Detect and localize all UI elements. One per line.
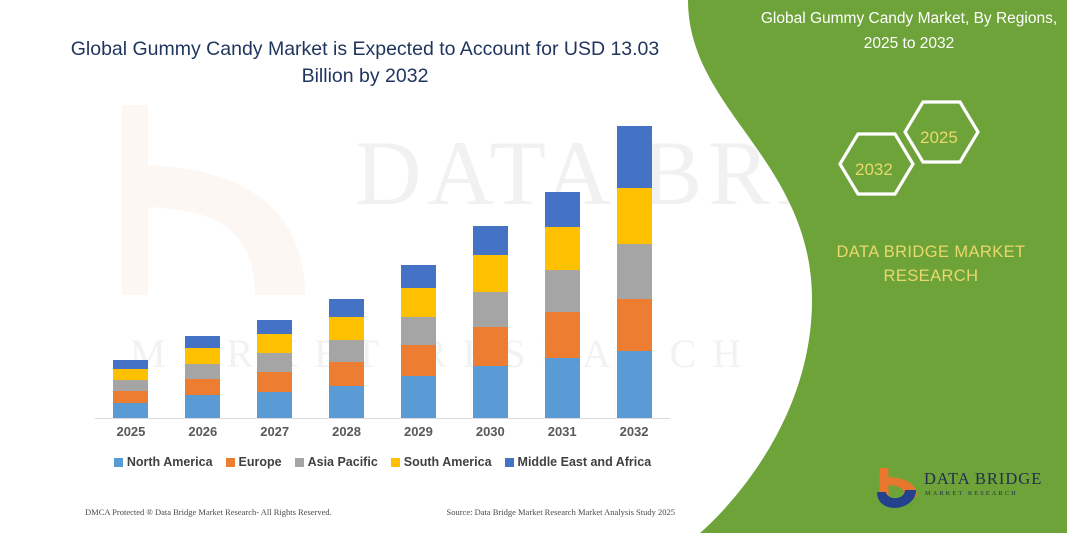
- stacked-bar: [545, 192, 580, 418]
- bar-segment: [401, 288, 436, 317]
- bar-segment: [257, 372, 292, 392]
- bar-segment: [329, 340, 364, 362]
- stacked-bar: [113, 360, 148, 418]
- x-axis-tick-2029: 2029: [383, 424, 455, 439]
- bar-segment: [113, 369, 148, 380]
- bar-segment: [617, 351, 652, 419]
- hex-label-2025: 2025: [920, 128, 958, 148]
- x-axis-labels: 20252026202720282029203020312032: [95, 424, 670, 439]
- footer-source: Source: Data Bridge Market Research Mark…: [446, 507, 675, 517]
- bar-segment: [473, 292, 508, 327]
- legend-item-south-america[interactable]: South America: [391, 455, 492, 469]
- legend-item-europe[interactable]: Europe: [226, 455, 282, 469]
- legend-label: Europe: [239, 455, 282, 469]
- bar-segment: [401, 345, 436, 376]
- bar-segment: [617, 126, 652, 188]
- hex-label-2032: 2032: [855, 160, 893, 180]
- legend-label: Middle East and Africa: [518, 455, 652, 469]
- bar-segment: [473, 327, 508, 366]
- bar-column-2025: [95, 110, 167, 418]
- bar-segment: [545, 358, 580, 418]
- bar-column-2029: [383, 110, 455, 418]
- bar-column-2028: [311, 110, 383, 418]
- bar-segment: [473, 226, 508, 255]
- bar-segment: [329, 386, 364, 418]
- bar-segment: [113, 360, 148, 368]
- legend-swatch-icon: [295, 458, 304, 467]
- footer-copyright: DMCA Protected ® Data Bridge Market Rese…: [85, 507, 332, 517]
- x-axis-tick-2030: 2030: [454, 424, 526, 439]
- bar-segment: [401, 265, 436, 288]
- bar-segment: [401, 317, 436, 345]
- bar-column-2027: [239, 110, 311, 418]
- stacked-bar: [185, 336, 220, 418]
- x-axis-line: [95, 418, 670, 419]
- legend-label: North America: [127, 455, 213, 469]
- brand-line-2: RESEARCH: [800, 264, 1062, 288]
- panel-title: Global Gummy Candy Market, By Regions, 2…: [760, 6, 1058, 56]
- stacked-bar: [257, 320, 292, 418]
- stacked-bar: [617, 126, 652, 418]
- legend-swatch-icon: [391, 458, 400, 467]
- brand-line-1: DATA BRIDGE MARKET: [800, 240, 1062, 264]
- x-axis-tick-2028: 2028: [311, 424, 383, 439]
- x-axis-tick-2032: 2032: [598, 424, 670, 439]
- x-axis-tick-2027: 2027: [239, 424, 311, 439]
- bar-segment: [545, 312, 580, 358]
- bar-segment: [185, 364, 220, 379]
- logo-tagline: MARKET RESEARCH: [925, 490, 1018, 497]
- bar-segment: [545, 270, 580, 312]
- bar-segment: [185, 348, 220, 364]
- bar-segment: [401, 376, 436, 418]
- footer: DMCA Protected ® Data Bridge Market Rese…: [85, 507, 675, 517]
- data-bridge-logo: DATA BRIDGE MARKET RESEARCH: [872, 466, 1057, 514]
- bar-segment: [113, 403, 148, 418]
- bar-column-2032: [598, 110, 670, 418]
- stacked-bar-chart: [95, 110, 670, 418]
- legend-swatch-icon: [505, 458, 514, 467]
- hexagon-pair-icon: [820, 95, 1020, 215]
- x-axis-tick-2025: 2025: [95, 424, 167, 439]
- legend-label: Asia Pacific: [308, 455, 378, 469]
- bar-segment: [185, 336, 220, 348]
- infographic-canvas: DATA BRIDGE MARKET RESEARCH Global Gummy…: [0, 0, 1067, 533]
- bar-column-2030: [454, 110, 526, 418]
- bar-segment: [329, 299, 364, 317]
- stacked-bar: [329, 299, 364, 418]
- bar-segment: [545, 192, 580, 226]
- bar-segment: [545, 227, 580, 271]
- page-title: Global Gummy Candy Market is Expected to…: [60, 36, 670, 90]
- chart-legend: North AmericaEuropeAsia PacificSouth Ame…: [95, 455, 670, 469]
- bar-column-2026: [167, 110, 239, 418]
- bar-segment: [185, 379, 220, 395]
- logo-name: DATA BRIDGE: [924, 469, 1042, 489]
- legend-label: South America: [404, 455, 492, 469]
- bar-column-2031: [526, 110, 598, 418]
- legend-swatch-icon: [226, 458, 235, 467]
- legend-swatch-icon: [114, 458, 123, 467]
- bar-segment: [473, 255, 508, 292]
- bar-segment: [329, 317, 364, 340]
- bar-segment: [113, 391, 148, 403]
- bar-segment: [617, 299, 652, 351]
- bar-segment: [185, 395, 220, 418]
- bar-segment: [113, 380, 148, 391]
- bar-segment: [257, 353, 292, 371]
- bar-segment: [257, 334, 292, 353]
- x-axis-tick-2031: 2031: [526, 424, 598, 439]
- bar-segment: [257, 320, 292, 335]
- legend-item-asia-pacific[interactable]: Asia Pacific: [295, 455, 378, 469]
- x-axis-tick-2026: 2026: [167, 424, 239, 439]
- bar-segment: [617, 188, 652, 244]
- brand-name: DATA BRIDGE MARKET RESEARCH: [800, 240, 1062, 288]
- bar-segment: [329, 362, 364, 386]
- bar-segment: [257, 392, 292, 418]
- bar-segment: [617, 244, 652, 299]
- legend-item-north-america[interactable]: North America: [114, 455, 213, 469]
- stacked-bar: [401, 265, 436, 418]
- stacked-bar: [473, 226, 508, 418]
- bar-segment: [473, 366, 508, 418]
- legend-item-middle-east-and-africa[interactable]: Middle East and Africa: [505, 455, 652, 469]
